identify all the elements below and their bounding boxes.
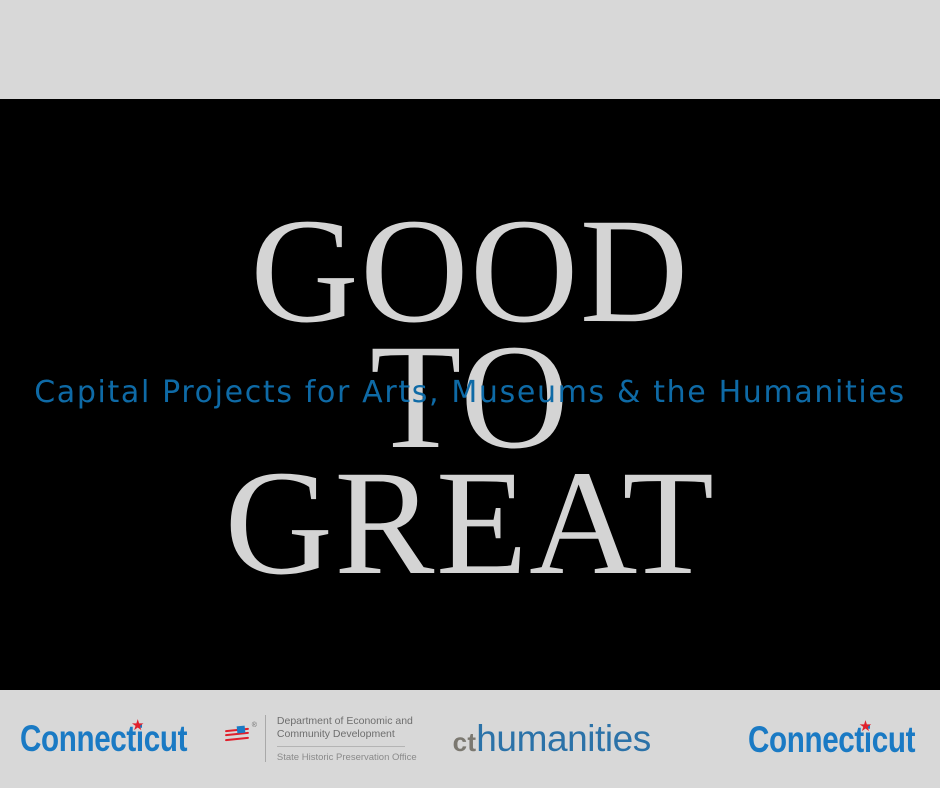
red-star-icon: ★: [131, 718, 144, 733]
top-margin-band: [0, 0, 940, 99]
connecticut-wordmark-wrap: Connecticut ★ ®: [20, 720, 251, 757]
logo-ct-decd-arts[interactable]: Connecticut ★ ® Department of Economic a…: [748, 709, 940, 770]
footer-logo-bar: Connecticut ★ ® Department of Economic a…: [0, 690, 940, 788]
slide-stage: GOOD TO GREAT Capital Projects for Arts,…: [0, 99, 940, 690]
connecticut-wordmark: Connecticut: [748, 721, 915, 758]
presentation-slide: GOOD TO GREAT Capital Projects for Arts,…: [0, 0, 940, 788]
title-line-great: GREAT: [225, 460, 716, 586]
logo-divider: [265, 715, 266, 762]
logo-ct-humanities[interactable]: ct humanities: [453, 718, 651, 760]
us-flag-icon: [225, 727, 249, 742]
dept-name: Department of Economic and Community Dev…: [277, 715, 417, 741]
cth-humanities-text: humanities: [476, 718, 651, 760]
office-name: State Historic Preservation Office: [277, 752, 417, 763]
logo-ct-decd-shpo[interactable]: Connecticut ★ ® Department of Economic a…: [20, 715, 417, 763]
footer-logo-row: Connecticut ★ ® Department of Economic a…: [0, 690, 940, 788]
subtitle-text: Capital Projects for Arts, Museums & the…: [0, 375, 940, 410]
cth-ct-text: ct: [453, 727, 477, 758]
logo-dept-text: Department of Economic and Community Dev…: [277, 715, 417, 763]
red-star-icon: ★: [859, 719, 872, 734]
dept-rule: [277, 746, 405, 747]
registered-trademark-icon: ®: [252, 722, 257, 729]
connecticut-wordmark-wrap: Connecticut ★ ®: [748, 721, 940, 758]
connecticut-wordmark: Connecticut: [20, 720, 187, 757]
